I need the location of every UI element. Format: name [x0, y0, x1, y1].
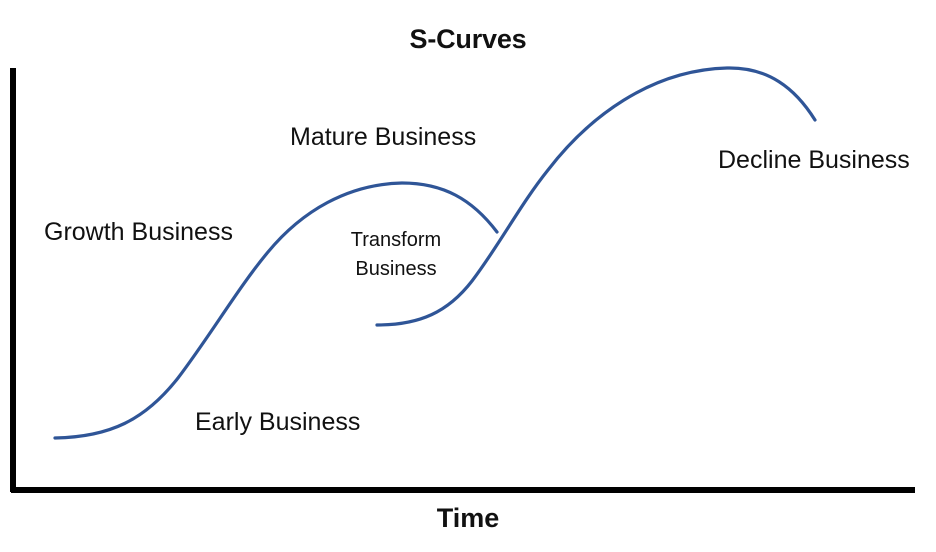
chart-plot-area [0, 0, 936, 552]
s-curves-diagram: S-Curves Growth Business Mature Business… [0, 0, 936, 552]
annotation-transform-line-1: Transform [351, 229, 441, 251]
second-s-curve [377, 68, 815, 325]
annotation-early-business: Early Business [195, 408, 360, 436]
annotation-mature-business: Mature Business [290, 123, 476, 151]
annotation-transform-business: TransformBusiness [337, 229, 455, 281]
annotation-growth-business: Growth Business [44, 218, 233, 246]
annotation-decline-business: Decline Business [718, 146, 910, 174]
annotation-transform-line-2: Business [337, 258, 455, 280]
x-axis-title: Time [0, 503, 936, 533]
